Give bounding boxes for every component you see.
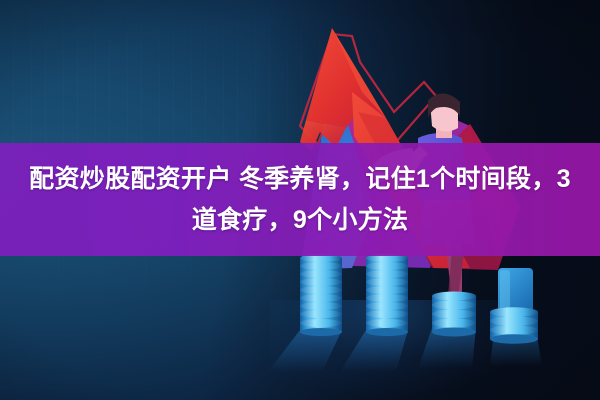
headline-band: 配资炒股配资开户 冬季养肾，记住1个时间段，3 道食疗，9个小方法 [0, 143, 600, 256]
headline-line-1: 配资炒股配资开户 冬季养肾，记住1个时间段，3 [29, 159, 571, 200]
headline-line-2: 道食疗，9个小方法 [192, 200, 409, 241]
banner-image: 配资炒股配资开户 冬季养肾，记住1个时间段，3 道食疗，9个小方法 [0, 0, 600, 400]
